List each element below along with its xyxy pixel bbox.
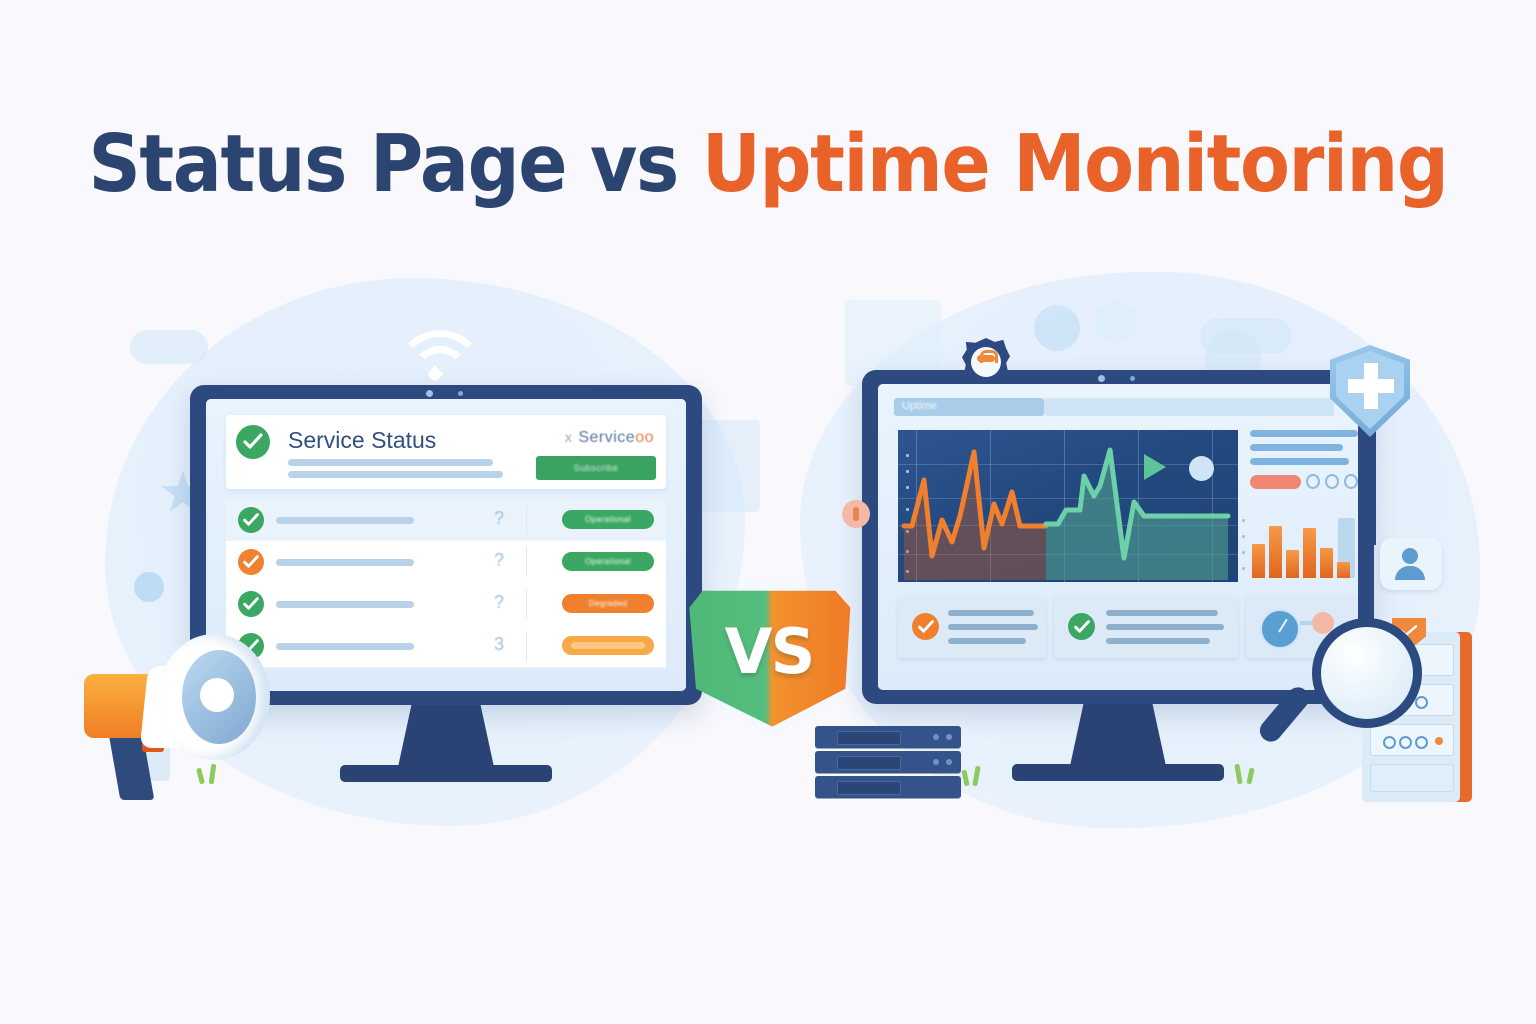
placeholder-line	[276, 559, 414, 566]
subscribe-button-label: Subscribe	[536, 456, 656, 480]
server-stack-icon	[815, 726, 967, 802]
check-circle-icon	[236, 425, 270, 459]
placeholder-line	[1250, 458, 1349, 465]
placeholder-line	[288, 459, 493, 466]
monitor-led	[1130, 376, 1135, 381]
server-led	[933, 759, 939, 765]
rack-unit	[1370, 764, 1454, 792]
gear-mark-bar	[977, 355, 995, 362]
server-led	[933, 734, 939, 740]
table-row[interactable]: ? Operational	[226, 541, 666, 584]
bar	[1269, 526, 1282, 578]
megaphone-icon	[62, 630, 312, 810]
row-divider	[526, 505, 527, 535]
bar	[1252, 544, 1265, 578]
status-badge: Degraded	[562, 594, 654, 613]
status-badge: Operational	[562, 510, 654, 529]
server-led	[946, 734, 952, 740]
chart-tick	[1242, 535, 1245, 538]
illustration-canvas: Status Page vs Uptime Monitoring Service…	[0, 0, 1536, 1024]
logo-text: Service	[578, 429, 635, 446]
monitor-camera	[1098, 375, 1105, 382]
ring-icon	[1306, 474, 1320, 489]
check-circle-icon	[238, 591, 264, 617]
rack-status-dot	[1435, 737, 1443, 745]
alert-bar	[1250, 475, 1301, 489]
placeholder-line	[948, 610, 1034, 616]
placeholder-line	[1106, 610, 1218, 616]
dashboard-sidebar	[1250, 430, 1358, 489]
ring-icon	[1325, 474, 1339, 489]
monitor-stand-base	[340, 765, 552, 782]
status-badge-label: Operational	[562, 510, 654, 529]
placeholder-line	[948, 624, 1038, 630]
lock-icon	[842, 500, 870, 528]
mini-bar-chart	[1250, 512, 1358, 578]
status-badge	[562, 636, 654, 655]
status-badge: Operational	[562, 552, 654, 571]
service-status-title: Service Status	[288, 427, 436, 454]
magnifier-lens	[1312, 618, 1422, 728]
shield-pole	[1365, 425, 1376, 545]
check-circle-icon	[238, 507, 264, 533]
avatar-head	[1402, 548, 1418, 564]
server-slot	[837, 731, 901, 745]
ring-icon	[1344, 474, 1358, 489]
row-divider	[526, 589, 527, 619]
placeholder-line	[1250, 444, 1343, 451]
chart-series-paths	[898, 430, 1238, 582]
page-title-part-a: Status Page vs	[88, 118, 701, 210]
shield-cross-horizontal	[1348, 379, 1394, 393]
table-row[interactable]: ? Degraded	[226, 583, 666, 626]
row-value: ?	[494, 592, 504, 613]
avatar-body	[1395, 566, 1425, 580]
chart-tick	[1242, 551, 1245, 554]
megaphone-inner-cap	[200, 678, 234, 712]
logo-x-mark: x	[565, 429, 573, 445]
logo-dot: oo	[635, 429, 654, 446]
monitor-stand-neck	[1070, 704, 1166, 766]
monitor-stand-neck	[398, 705, 494, 767]
dashboard-title-label: Uptime	[902, 400, 937, 412]
table-row[interactable]: ? Operational	[226, 499, 666, 542]
deco-gear-icon	[1034, 305, 1080, 351]
placeholder-line	[948, 638, 1026, 644]
status-orb-icon	[1189, 456, 1214, 481]
vs-badge-label: VS	[686, 588, 852, 728]
row-value: ?	[494, 508, 504, 529]
metric-card[interactable]	[898, 596, 1046, 658]
bar	[1286, 550, 1299, 578]
status-badge-label: Degraded	[562, 594, 654, 613]
subscribe-button[interactable]: Subscribe	[536, 456, 656, 480]
deco-cloud-1	[130, 330, 208, 364]
row-divider	[526, 631, 527, 661]
server-slot	[837, 756, 901, 770]
gauge-needle	[1278, 619, 1288, 633]
bar	[1320, 548, 1333, 578]
shield-cross-icon	[1330, 345, 1410, 437]
server-led	[946, 759, 952, 765]
placeholder-line	[288, 471, 503, 478]
service-status-header-card: Service Status xServiceoo Subscribe	[226, 415, 666, 489]
metric-card[interactable]	[1054, 596, 1238, 658]
uptime-chart	[898, 430, 1238, 582]
chart-tick	[1242, 567, 1245, 570]
dashboard-titlebar-filler	[1044, 398, 1334, 416]
server-unit	[815, 751, 961, 773]
monitor-screen-right: Uptime	[878, 384, 1358, 690]
status-badge-label: Operational	[562, 552, 654, 571]
user-avatar-icon	[1380, 538, 1442, 590]
row-divider	[526, 547, 527, 577]
play-triangle-icon[interactable]	[1144, 454, 1166, 480]
service-logo: xServiceoo	[565, 429, 654, 447]
page-title-part-b: Uptime Monitoring	[702, 118, 1448, 210]
placeholder-line	[1106, 624, 1224, 630]
magnifying-glass-icon	[1288, 612, 1428, 762]
placeholder-line	[1106, 638, 1210, 644]
page-title: Status Page vs Uptime Monitoring	[61, 118, 1474, 210]
uptime-dashboard-screen: Uptime	[878, 384, 1358, 690]
monitor-stand-base	[1012, 764, 1224, 781]
deco-flower-icon	[134, 572, 164, 602]
placeholder-line	[276, 601, 414, 608]
server-slot	[837, 781, 901, 795]
row-value: 3	[494, 634, 504, 655]
bar	[1337, 562, 1350, 578]
server-unit	[815, 776, 961, 798]
wifi-icon	[395, 330, 485, 392]
settings-gear-badge-icon	[962, 338, 1010, 386]
bar	[1303, 528, 1316, 578]
check-circle-icon	[238, 549, 264, 575]
vs-badge: VS	[686, 588, 852, 728]
server-unit	[815, 726, 961, 748]
dashboard-titlebar: Uptime	[894, 398, 1044, 416]
check-circle-icon	[1068, 613, 1095, 640]
badge-inner-bar	[571, 642, 645, 649]
lock-key	[853, 507, 859, 521]
row-value: ?	[494, 550, 504, 571]
placeholder-line	[276, 517, 414, 524]
chart-tick	[1242, 519, 1245, 522]
check-circle-icon	[912, 613, 939, 640]
